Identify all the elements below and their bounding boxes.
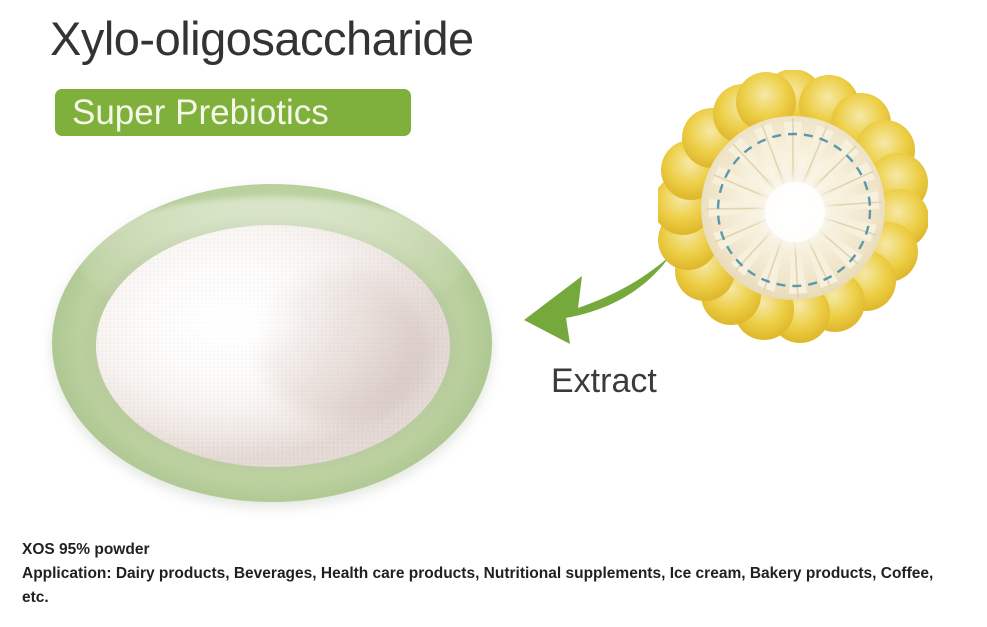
caption-product-line: XOS 95% powder [22, 538, 952, 562]
page-title: Xylo-oligosaccharide [50, 14, 474, 63]
corn-core [701, 116, 885, 300]
caption-block: XOS 95% powder Application: Dairy produc… [22, 538, 952, 610]
status-badge-label: Super Prebiotics [72, 91, 329, 134]
bowl-gloss [78, 197, 465, 324]
bowl-of-white-powder [52, 184, 492, 502]
caption-application-line: Application: Dairy products, Beverages, … [22, 562, 952, 610]
extract-label: Extract [551, 362, 657, 401]
status-badge: Super Prebiotics [55, 89, 411, 136]
product-banner: Xylo-oligosaccharide Super Prebiotics Ex… [0, 0, 987, 627]
corn-cob-cross-section [658, 70, 928, 347]
extract-arrow-icon [520, 252, 672, 348]
